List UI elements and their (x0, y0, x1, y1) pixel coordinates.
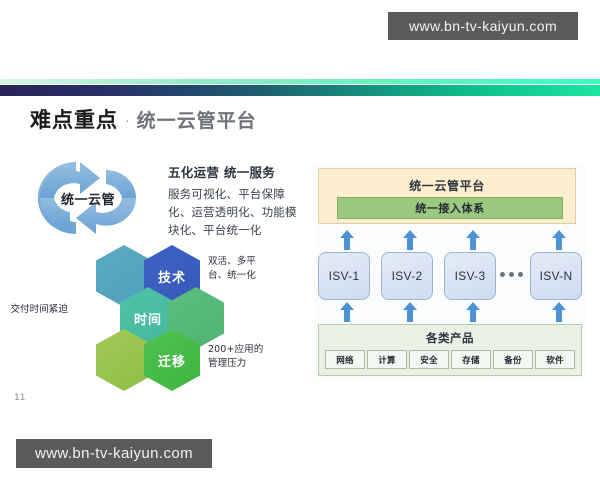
note-time: 交付时间紧迫 (8, 303, 68, 317)
products-title: 各类产品 (319, 330, 581, 346)
isv-box-1[interactable]: ISV-1 (318, 252, 370, 300)
platform-box: 统一云管平台 统一接入体系 (318, 168, 576, 224)
isv-box-n[interactable]: ISV-N (530, 252, 582, 300)
platform-title: 统一云管平台 (319, 177, 575, 194)
products-box: 各类产品 网络 计算 安全 存储 备份 软件 (318, 324, 582, 376)
watermark-top: www.bn-tv-kaiyun.com (388, 12, 578, 40)
operations-blurb-heading: 五化运营 统一服务 (168, 162, 300, 181)
product-chip-storage[interactable]: 存储 (451, 350, 491, 369)
arrow-up-icon (552, 302, 566, 322)
left-panel: 统一云管 五化运营 统一服务 服务可视化、平台保障化、运营透明化、功能模块化、平… (0, 150, 310, 400)
arrow-up-icon (466, 230, 480, 250)
isv-row: ISV-1 ISV-2 ISV-3 ISV-N (318, 252, 582, 300)
arrow-up-icon (340, 302, 354, 322)
arrow-up-icon (403, 302, 417, 322)
product-chip-backup[interactable]: 备份 (493, 350, 533, 369)
arrow-up-icon (466, 302, 480, 322)
watermark-bottom: www.bn-tv-kaiyun.com (16, 439, 212, 468)
access-layer-box: 统一接入体系 (337, 197, 563, 219)
isv-box-3[interactable]: ISV-3 (444, 252, 496, 300)
cycle-diagram: 统一云管 (18, 156, 158, 240)
operations-blurb: 五化运营 统一服务 服务可视化、平台保障化、运营透明化、功能模块化、平台统一化 (168, 162, 300, 239)
note-tech: 双活、多平台、统一化 (208, 255, 272, 283)
product-chip-security[interactable]: 安全 (409, 350, 449, 369)
arrow-up-icon (340, 230, 354, 250)
isv-box-2[interactable]: ISV-2 (381, 252, 433, 300)
hexagon-cluster: 技术 时间 迁移 双活、多平台、统一化 交付时间紧迫 200+应用的管理压力 (60, 245, 310, 395)
architecture-diagram: 统一云管平台 统一接入体系 ISV-1 ISV-2 ISV-3 ISV-N (314, 164, 586, 382)
arrow-up-icon (403, 230, 417, 250)
operations-blurb-body: 服务可视化、平台保障化、运营透明化、功能模块化、平台统一化 (168, 186, 300, 239)
page-title-main: 难点重点 (30, 104, 118, 134)
note-migration: 200+应用的管理压力 (208, 343, 268, 371)
ellipsis-icon (500, 272, 523, 277)
product-chip-list: 网络 计算 安全 存储 备份 软件 (319, 350, 581, 369)
accent-rule-main (0, 85, 600, 96)
product-chip-compute[interactable]: 计算 (367, 350, 407, 369)
arrow-up-icon (552, 230, 566, 250)
product-chip-software[interactable]: 软件 (535, 350, 575, 369)
product-chip-network[interactable]: 网络 (325, 350, 365, 369)
slide-canvas: www.bn-tv-kaiyun.com 难点重点 · 统一云管平台 (0, 0, 600, 480)
page-title-separator: · (125, 112, 130, 128)
accent-rule-thin (0, 79, 600, 84)
page-title: 难点重点 · 统一云管平台 (30, 104, 257, 134)
page-title-sub: 统一云管平台 (137, 106, 257, 133)
page-number: 11 (14, 393, 25, 403)
